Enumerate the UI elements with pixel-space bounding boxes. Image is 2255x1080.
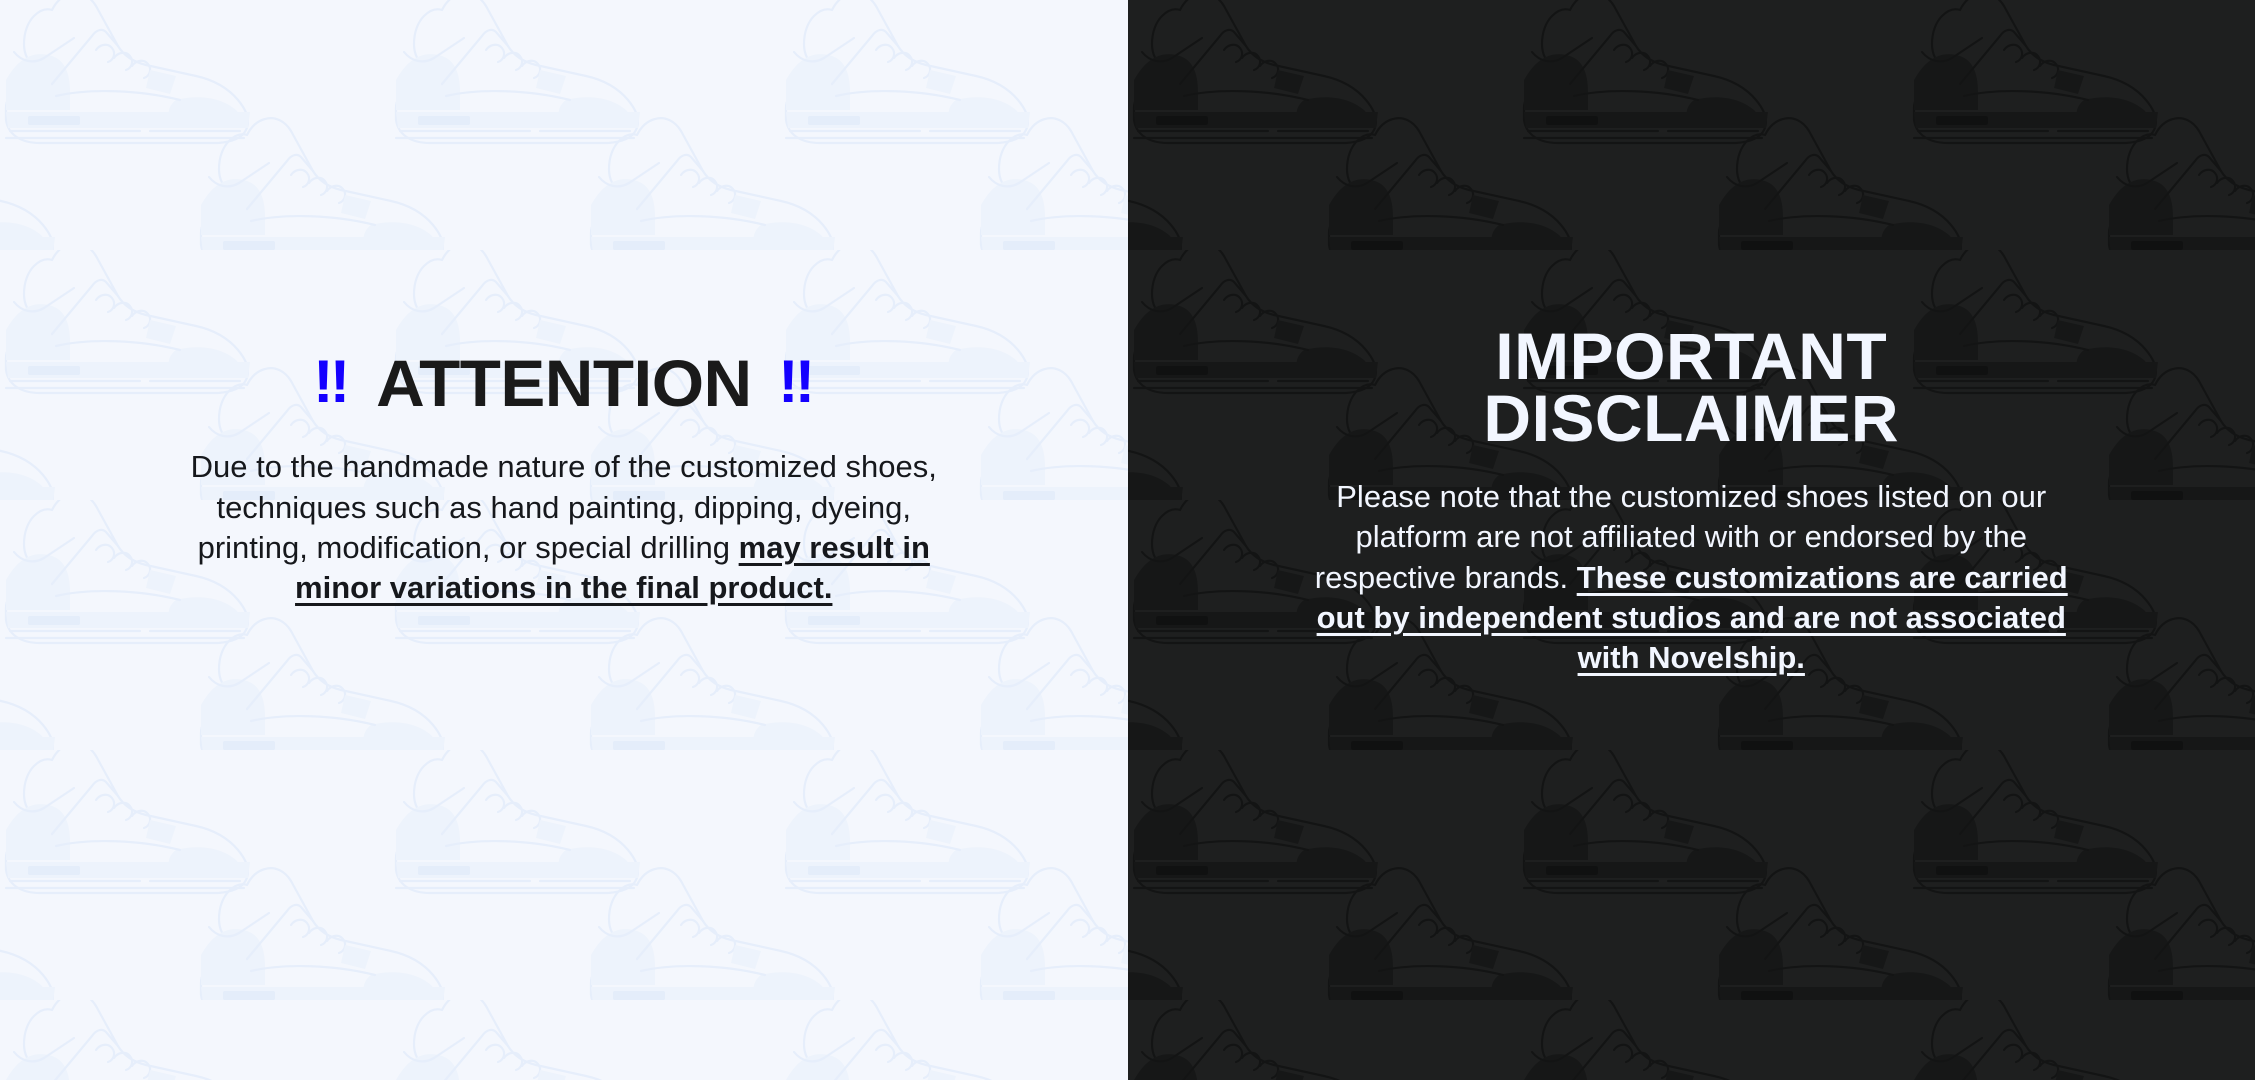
attention-content: ‼ ATTENTION ‼ Due to the handmade nature… [0,0,1128,609]
attention-heading: ‼ ATTENTION ‼ [313,352,815,415]
disclaimer-heading: IMPORTANT DISCLAIMER [1483,325,1899,449]
attention-panel: ‼ ATTENTION ‼ Due to the handmade nature… [0,0,1128,1080]
double-exclamation-icon-right: ‼ [778,352,814,412]
attention-heading-text: ATTENTION [376,352,752,415]
disclaimer-content: IMPORTANT DISCLAIMER Please note that th… [1128,0,2255,679]
attention-disclaimer-banner: ‼ ATTENTION ‼ Due to the handmade nature… [0,0,2255,1080]
attention-body: Due to the handmade nature of the custom… [169,447,959,608]
disclaimer-heading-line2: DISCLAIMER [1483,381,1899,455]
double-exclamation-icon-left: ‼ [313,352,349,412]
disclaimer-panel: IMPORTANT DISCLAIMER Please note that th… [1128,0,2255,1080]
disclaimer-body: Please note that the customized shoes li… [1291,477,2091,678]
